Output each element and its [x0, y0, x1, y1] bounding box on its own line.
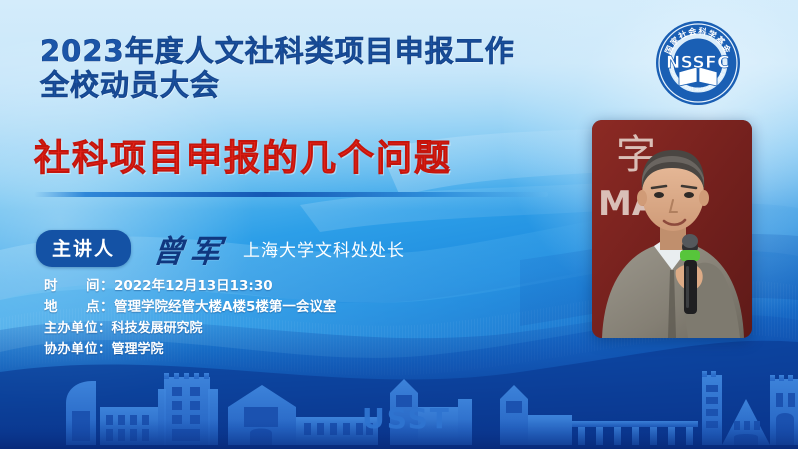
speaker-role: 上海大学文科处处长: [243, 236, 405, 261]
speaker-label-badge: 主讲人: [36, 230, 131, 267]
detail-label-location: 地 点：: [44, 297, 114, 318]
title-divider: [34, 192, 548, 197]
page-title: 2023年度人文社科类项目申报工作 全校动员大会: [40, 34, 640, 102]
detail-row-organizer: 主办单位：科技发展研究院: [44, 318, 336, 339]
detail-label-time: 时 间：: [44, 276, 114, 297]
nssfc-logo: 国家社会科学基金 The National Social Science Fun…: [655, 20, 741, 106]
badge-acronym-text: NSSFC: [666, 53, 730, 73]
event-details-list: 时 间：2022年12月13日13:30 地 点：管理学院经管大楼A楼5楼第一会…: [44, 276, 336, 360]
title-line-1: 2023年度人文社科类项目申报工作: [40, 34, 640, 68]
subtitle-block: 社科项目申报的几个问题: [34, 136, 574, 182]
detail-row-time: 时 间：2022年12月13日13:30: [44, 276, 336, 297]
event-poster: 国家社会科学基金 The National Social Science Fun…: [0, 0, 798, 449]
speaker-photo: 字 MA: [592, 120, 752, 338]
title-line-2: 全校动员大会: [40, 68, 640, 102]
speaker-row: 主讲人 曾军 上海大学文科处处长: [36, 226, 405, 271]
detail-row-location: 地 点：管理学院经管大楼A楼5楼第一会议室: [44, 297, 336, 318]
detail-value-organizer: 科技发展研究院: [112, 321, 203, 336]
detail-value-coorganizer: 管理学院: [112, 342, 164, 357]
detail-value-time: 2022年12月13日13:30: [114, 278, 273, 294]
subtitle-text: 社科项目申报的几个问题: [34, 136, 574, 182]
detail-label-coorganizer: 协办单位：: [44, 339, 112, 360]
detail-label-organizer: 主办单位：: [44, 318, 112, 339]
speaker-name: 曾军: [151, 226, 230, 271]
detail-row-coorganizer: 协办单位：管理学院: [44, 339, 336, 360]
detail-value-location: 管理学院经管大楼A楼5楼第一会议室: [114, 299, 336, 315]
university-abbreviation: USST: [362, 402, 451, 435]
